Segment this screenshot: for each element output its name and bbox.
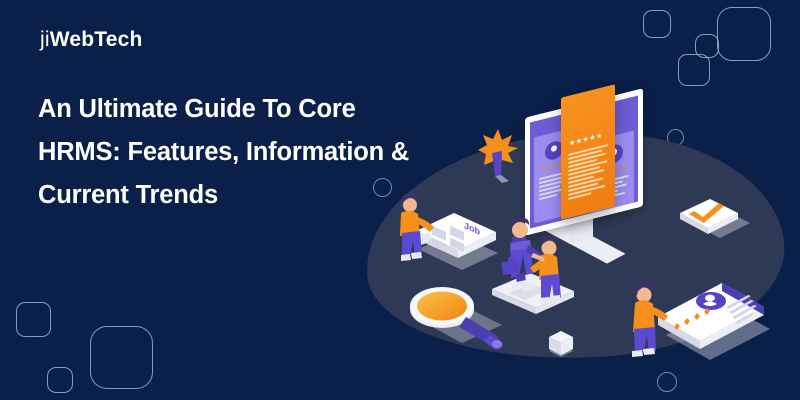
job-newspaper-group: Job (388, 183, 508, 273)
decor-rounded-square (717, 7, 771, 61)
decor-rounded-square (16, 302, 51, 337)
decor-rounded-square (47, 367, 73, 393)
brand-prefix: ji (40, 28, 50, 51)
blog-banner: jiWebTech An Ultimate Guide To Core HRMS… (0, 0, 800, 400)
decor-rounded-square (643, 10, 671, 38)
decor-rounded-square (678, 54, 710, 86)
hrms-illustration: ★★★★ ★★★★★ (360, 95, 800, 400)
star-burst-icon (478, 127, 518, 182)
brand-logo[interactable]: jiWebTech (40, 28, 143, 52)
search-icon (398, 283, 508, 353)
brand-suffix: WebTech (50, 28, 143, 51)
check-icon (672, 191, 752, 251)
profile-card-icon: ★★★★★ (561, 84, 615, 219)
resume-review-group (618, 265, 768, 375)
decor-rounded-square (90, 326, 153, 389)
cube-icon (545, 327, 575, 361)
card-text-lines (568, 144, 608, 202)
avatar (561, 91, 587, 123)
